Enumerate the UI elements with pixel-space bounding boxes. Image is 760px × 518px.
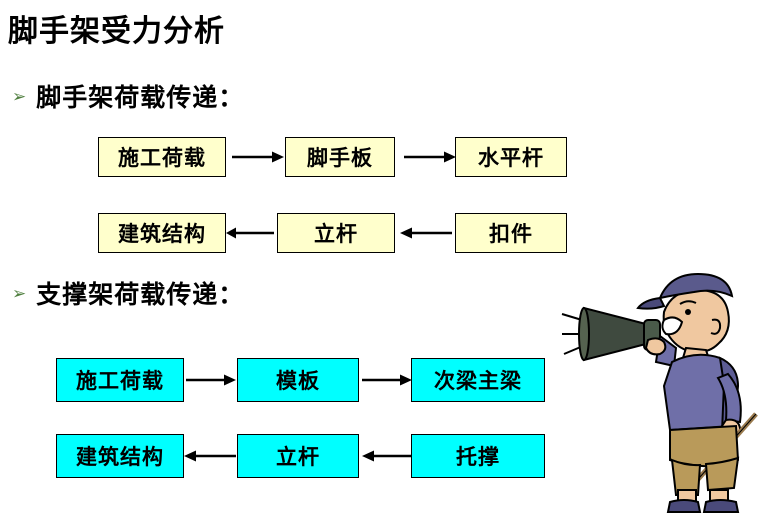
flow-box-s1-r1-c2: 脚手板 (285, 137, 395, 177)
arrow-left-icon-s2-r2-b (362, 449, 414, 463)
flow-box-s2-r1-c2: 模板 (237, 358, 359, 402)
flow-box-s2-r1-c3: 次梁主梁 (411, 358, 545, 402)
megaphone-icon (584, 308, 646, 360)
bullet-scaffold-load-transfer: ➢ 脚手架荷载传递： (12, 78, 244, 114)
flow-box-s1-r2-c1: 建筑结构 (98, 213, 226, 253)
right-leg-short (706, 458, 738, 490)
flow-box-s1-r1-c1: 施工荷载 (98, 137, 226, 177)
flow-box-s2-r2-c3: 托撑 (411, 434, 545, 478)
arrow-right-icon-s1-r1-a (232, 150, 284, 164)
bullet-label: 脚手架荷载传递： (36, 78, 244, 114)
flow-box-s2-r1-c1: 施工荷载 (56, 358, 184, 402)
bullet-marker-icon: ➢ (12, 88, 26, 105)
page-title: 脚手架受力分析 (8, 6, 225, 50)
flow-box-s2-r2-c2: 立杆 (237, 434, 359, 478)
bullet-support-frame-load-transfer: ➢ 支撑架荷载传递： (12, 275, 244, 311)
left-hand (646, 338, 665, 354)
cartoon-man-with-megaphone (560, 262, 760, 518)
bullet-marker-icon-2: ➢ (12, 285, 26, 302)
right-shoe (704, 500, 738, 512)
arrow-left-icon-s1-r2-a (226, 226, 274, 240)
arrow-left-icon-s2-r2-a (184, 449, 236, 463)
ear (711, 320, 720, 334)
bullet-label-2: 支撑架荷载传递： (36, 275, 244, 311)
flow-box-s1-r2-c2: 立杆 (277, 213, 395, 253)
arrow-right-icon-s1-r1-b (404, 150, 456, 164)
left-shoe (668, 500, 700, 512)
flow-box-s1-r1-c3: 水平杆 (455, 137, 567, 177)
arrow-right-icon-s2-r1-a (186, 373, 236, 387)
flow-box-s1-r2-c3: 扣件 (455, 213, 567, 253)
cap-brim (638, 298, 664, 309)
slide-canvas: 脚手架受力分析 ➢ 脚手架荷载传递： 施工荷载 脚手板 水平杆 建筑结构 立杆 (0, 0, 760, 518)
arrow-right-icon-s2-r1-b (362, 373, 412, 387)
eye (685, 309, 691, 315)
arrow-left-icon-s1-r2-b (400, 226, 452, 240)
flow-box-s2-r2-c1: 建筑结构 (56, 434, 184, 478)
